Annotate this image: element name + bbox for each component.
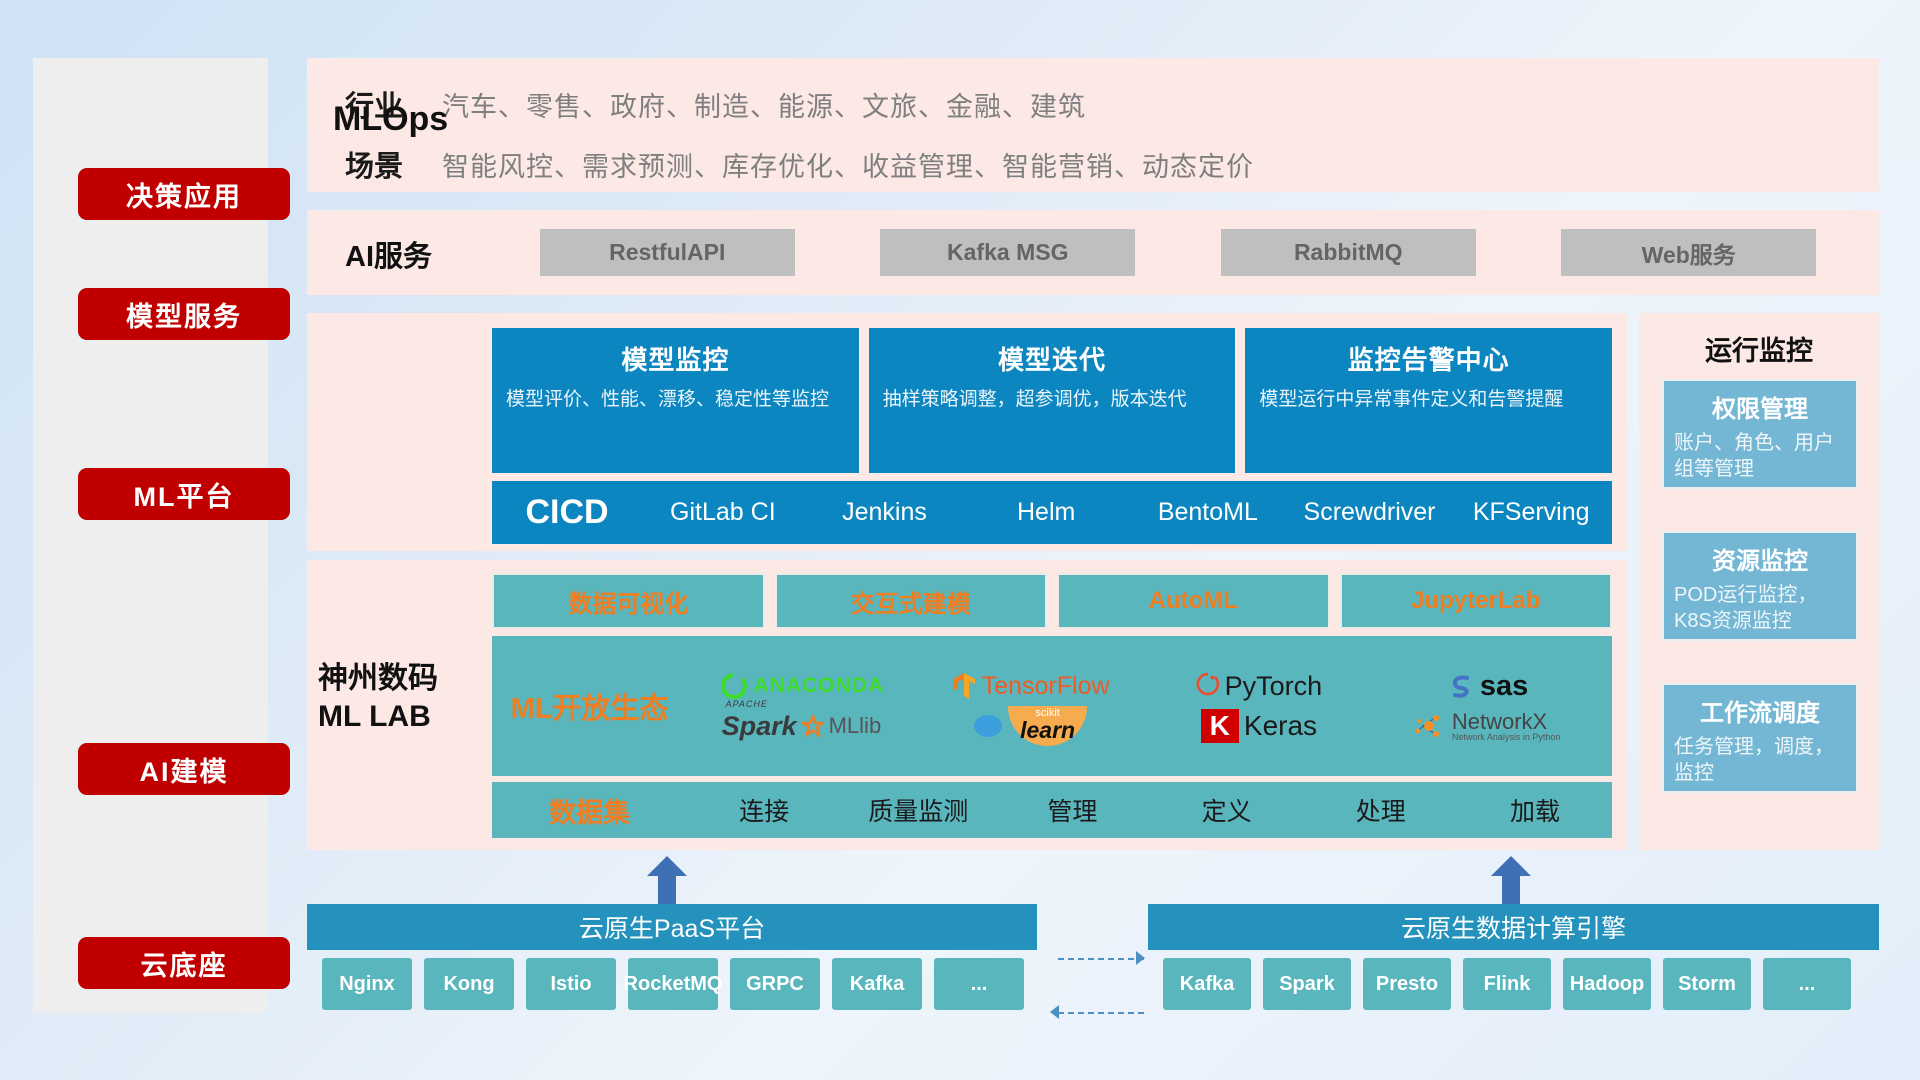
card-title: 模型监控 <box>506 340 845 377</box>
tensorflow-logo-text: TensorFlow <box>982 672 1110 701</box>
scenario-row: 场景 智能风控、需求预测、库存优化、收益管理、智能营销、动态定价 <box>307 136 1879 192</box>
networkx-graph-icon <box>1415 712 1447 740</box>
keras-logo: K Keras <box>1201 709 1317 743</box>
rail-item-model-service[interactable]: 模型服务 <box>78 288 290 340</box>
spark-mllib-logo: APACHE Spark MLlib <box>722 711 882 742</box>
ml-ecosystem-logo-grid: ANACONDA TensorFlow <box>687 666 1612 746</box>
networkx-logo-subtitle: Network Analysis in Python <box>1452 733 1561 742</box>
ml-lab-panel: 数据可视化 交互式建模 AutoML JupyterLab ML开放生态 ANA… <box>307 560 1627 850</box>
ai-service-title: AI服务 <box>345 233 432 275</box>
engine-chip-flink[interactable]: Flink <box>1463 958 1551 1010</box>
mlops-card-list: 模型监控 模型评价、性能、漂移、稳定性等监控 模型迭代 抽样策略调整，超参调优，… <box>492 328 1612 473</box>
anaconda-logo: ANACONDA <box>719 671 885 701</box>
cicd-item-screwdriver[interactable]: Screwdriver <box>1289 499 1451 525</box>
card-title: 监控告警中心 <box>1259 340 1598 377</box>
sas-logo-text: sas <box>1480 670 1528 703</box>
scikit-learn-logo: scikit learn <box>973 706 1087 746</box>
dataset-item-load[interactable]: 加载 <box>1458 792 1612 828</box>
cicd-item-jenkins[interactable]: Jenkins <box>804 499 966 525</box>
ai-service-web[interactable]: Web服务 <box>1561 229 1816 276</box>
dashed-arrowhead-right-icon <box>1136 951 1145 965</box>
spark-apache-tag: APACHE <box>726 699 768 709</box>
ai-service-kafka-msg[interactable]: Kafka MSG <box>880 229 1135 276</box>
ml-lab-title-line2: ML LAB <box>318 698 438 736</box>
rail-label-text: 模型服务 <box>126 295 242 334</box>
monitoring-card-permissions[interactable]: 权限管理 账户、角色、用户组等管理 <box>1662 379 1858 489</box>
dataset-item-quality-monitor[interactable]: 质量监测 <box>841 792 995 828</box>
tensorflow-logo: TensorFlow <box>951 671 1110 701</box>
pytorch-flame-icon <box>1196 671 1220 701</box>
keras-logo-text: Keras <box>1244 710 1317 742</box>
dashed-arrowhead-left-icon <box>1050 1005 1059 1019</box>
engine-chip-kafka[interactable]: Kafka <box>1163 958 1251 1010</box>
paas-chip-kong[interactable]: Kong <box>424 958 514 1010</box>
ml-lab-title: 神州数码 ML LAB <box>318 660 438 735</box>
ai-service-restfulapi[interactable]: RestfulAPI <box>540 229 795 276</box>
mllib-logo-text: MLlib <box>829 713 882 739</box>
spark-logo-text: Spark <box>722 711 797 741</box>
rail-label-text: 决策应用 <box>126 175 242 214</box>
mlops-card-model-monitoring[interactable]: 模型监控 模型评价、性能、漂移、稳定性等监控 <box>492 328 859 473</box>
cicd-label: CICD <box>492 493 642 532</box>
ai-service-list: RestfulAPI Kafka MSG RabbitMQ Web服务 <box>497 210 1859 295</box>
dataset-label: 数据集 <box>492 791 687 830</box>
engine-chip-spark[interactable]: Spark <box>1263 958 1351 1010</box>
dashed-connector-bottom <box>1058 1012 1144 1014</box>
keras-mark-icon: K <box>1201 709 1239 743</box>
card-title: 权限管理 <box>1674 389 1846 424</box>
dataset-bar: 数据集 连接 质量监测 管理 定义 处理 加载 <box>492 782 1612 838</box>
paas-chip-list: Nginx Kong Istio RocketMQ GRPC Kafka ... <box>322 958 1024 1010</box>
scenario-value: 智能风控、需求预测、库存优化、收益管理、智能营销、动态定价 <box>442 145 1254 184</box>
ml-lab-tool-jupyterlab[interactable]: JupyterLab <box>1340 573 1613 629</box>
paas-bar[interactable]: 云原生PaaS平台 <box>307 904 1037 950</box>
pytorch-logo: PyTorch <box>1196 671 1323 702</box>
ml-open-ecosystem: ML开放生态 ANACONDA T <box>492 636 1612 776</box>
cicd-item-helm[interactable]: Helm <box>965 499 1127 525</box>
mlops-card-model-iteration[interactable]: 模型迭代 抽样策略调整，超参调优，版本迭代 <box>869 328 1236 473</box>
data-engine-bar-label: 云原生数据计算引擎 <box>1401 909 1626 945</box>
engine-chip-presto[interactable]: Presto <box>1363 958 1451 1010</box>
runtime-monitoring-title: 运行监控 <box>1639 329 1879 368</box>
paas-chip-kafka[interactable]: Kafka <box>832 958 922 1010</box>
rail-item-cloud-base[interactable]: 云底座 <box>78 937 290 989</box>
dataset-item-process[interactable]: 处理 <box>1304 792 1458 828</box>
tensorflow-mark-icon <box>951 671 977 701</box>
monitoring-card-resources[interactable]: 资源监控 POD运行监控，K8S资源监控 <box>1662 531 1858 641</box>
ml-lab-tool-list: 数据可视化 交互式建模 AutoML JupyterLab <box>492 573 1612 629</box>
ml-lab-tool-interactive-modeling[interactable]: 交互式建模 <box>775 573 1048 629</box>
rail-item-ai-modeling[interactable]: AI建模 <box>78 743 290 795</box>
dataset-item-connect[interactable]: 连接 <box>687 792 841 828</box>
pytorch-logo-text: PyTorch <box>1225 671 1323 702</box>
networkx-logo: NetworkX Network Analysis in Python <box>1415 710 1561 743</box>
ai-service-panel: AI服务 RestfulAPI Kafka MSG RabbitMQ Web服务 <box>307 210 1879 295</box>
mlops-panel: 模型监控 模型评价、性能、漂移、稳定性等监控 模型迭代 抽样策略调整，超参调优，… <box>307 313 1627 551</box>
spark-star-icon <box>802 715 824 737</box>
rail-label-text: ML平台 <box>134 475 235 514</box>
anaconda-logo-text: ANACONDA <box>754 674 885 698</box>
paas-chip-grpc[interactable]: GRPC <box>730 958 820 1010</box>
paas-bar-label: 云原生PaaS平台 <box>579 909 765 945</box>
ml-lab-tool-data-visualization[interactable]: 数据可视化 <box>492 573 765 629</box>
cicd-item-gitlab-ci[interactable]: GitLab CI <box>642 499 804 525</box>
card-desc: POD运行监控，K8S资源监控 <box>1674 582 1846 634</box>
arrow-up-paas-icon <box>645 856 689 900</box>
engine-chip-storm[interactable]: Storm <box>1663 958 1751 1010</box>
ml-lab-title-line1: 神州数码 <box>318 660 438 698</box>
rail-label-text: AI建模 <box>140 750 229 789</box>
card-desc: 任务管理，调度，监控 <box>1674 734 1846 786</box>
mlops-title: MLOps <box>333 100 493 139</box>
industry-row: 行业 汽车、零售、政府、制造、能源、文旅、金融、建筑 <box>307 76 1879 132</box>
engine-chip-more[interactable]: ... <box>1763 958 1851 1010</box>
card-title: 工作流调度 <box>1674 693 1846 728</box>
paas-chip-rocketmq[interactable]: RocketMQ <box>628 958 718 1010</box>
dataset-item-define[interactable]: 定义 <box>1150 792 1304 828</box>
rail-item-decision-apps[interactable]: 决策应用 <box>78 168 290 220</box>
left-rail: 决策应用 模型服务 ML平台 AI建模 <box>33 58 268 1013</box>
card-desc: 抽样策略调整，超参调优，版本迭代 <box>883 387 1222 413</box>
scikit-learn-logo-text: learn <box>1020 719 1075 742</box>
card-title: 模型迭代 <box>883 340 1222 377</box>
ai-service-rabbitmq[interactable]: RabbitMQ <box>1221 229 1476 276</box>
data-engine-bar[interactable]: 云原生数据计算引擎 <box>1148 904 1879 950</box>
rail-item-ml-platform[interactable]: ML平台 <box>78 468 290 520</box>
ml-ecosystem-label: ML开放生态 <box>492 685 687 727</box>
runtime-monitoring-panel: 运行监控 权限管理 账户、角色、用户组等管理 资源监控 POD运行监控，K8S资… <box>1639 313 1879 850</box>
industry-value: 汽车、零售、政府、制造、能源、文旅、金融、建筑 <box>442 85 1086 124</box>
diagram-canvas: 决策应用 模型服务 ML平台 AI建模 云底座 行业 汽车、零售、政府、制造、能… <box>0 0 1920 1080</box>
mlops-card-alert-center[interactable]: 监控告警中心 模型运行中异常事件定义和告警提醒 <box>1245 328 1612 473</box>
cicd-item-kfserving[interactable]: KFServing <box>1450 499 1612 525</box>
cicd-bar: CICD GitLab CI Jenkins Helm BentoML Scre… <box>492 481 1612 544</box>
networkx-logo-text: NetworkX <box>1452 710 1561 733</box>
ml-lab-tool-automl[interactable]: AutoML <box>1057 573 1330 629</box>
paas-chip-istio[interactable]: Istio <box>526 958 616 1010</box>
sas-logo: sas <box>1447 670 1528 703</box>
scenario-key: 场景 <box>307 143 442 185</box>
arrow-up-engine-icon <box>1489 856 1533 900</box>
card-desc: 账户、角色、用户组等管理 <box>1674 430 1846 482</box>
monitoring-card-workflow[interactable]: 工作流调度 任务管理，调度，监控 <box>1662 683 1858 793</box>
card-desc: 模型评价、性能、漂移、稳定性等监控 <box>506 387 845 413</box>
dashed-connector-top <box>1058 958 1144 960</box>
decision-apps-panel: 行业 汽车、零售、政府、制造、能源、文旅、金融、建筑 场景 智能风控、需求预测、… <box>307 58 1879 192</box>
rail-label-text: 云底座 <box>141 944 228 983</box>
scikit-blue-blob-icon <box>973 713 1003 739</box>
sas-mark-icon <box>1447 671 1475 701</box>
engine-chip-hadoop[interactable]: Hadoop <box>1563 958 1651 1010</box>
paas-chip-nginx[interactable]: Nginx <box>322 958 412 1010</box>
card-title: 资源监控 <box>1674 541 1846 576</box>
anaconda-mark-icon <box>719 671 749 701</box>
engine-chip-list: Kafka Spark Presto Flink Hadoop Storm ..… <box>1163 958 1851 1010</box>
cicd-item-bentoml[interactable]: BentoML <box>1127 499 1289 525</box>
card-desc: 模型运行中异常事件定义和告警提醒 <box>1259 387 1598 413</box>
paas-chip-more[interactable]: ... <box>934 958 1024 1010</box>
dataset-item-manage[interactable]: 管理 <box>995 792 1149 828</box>
